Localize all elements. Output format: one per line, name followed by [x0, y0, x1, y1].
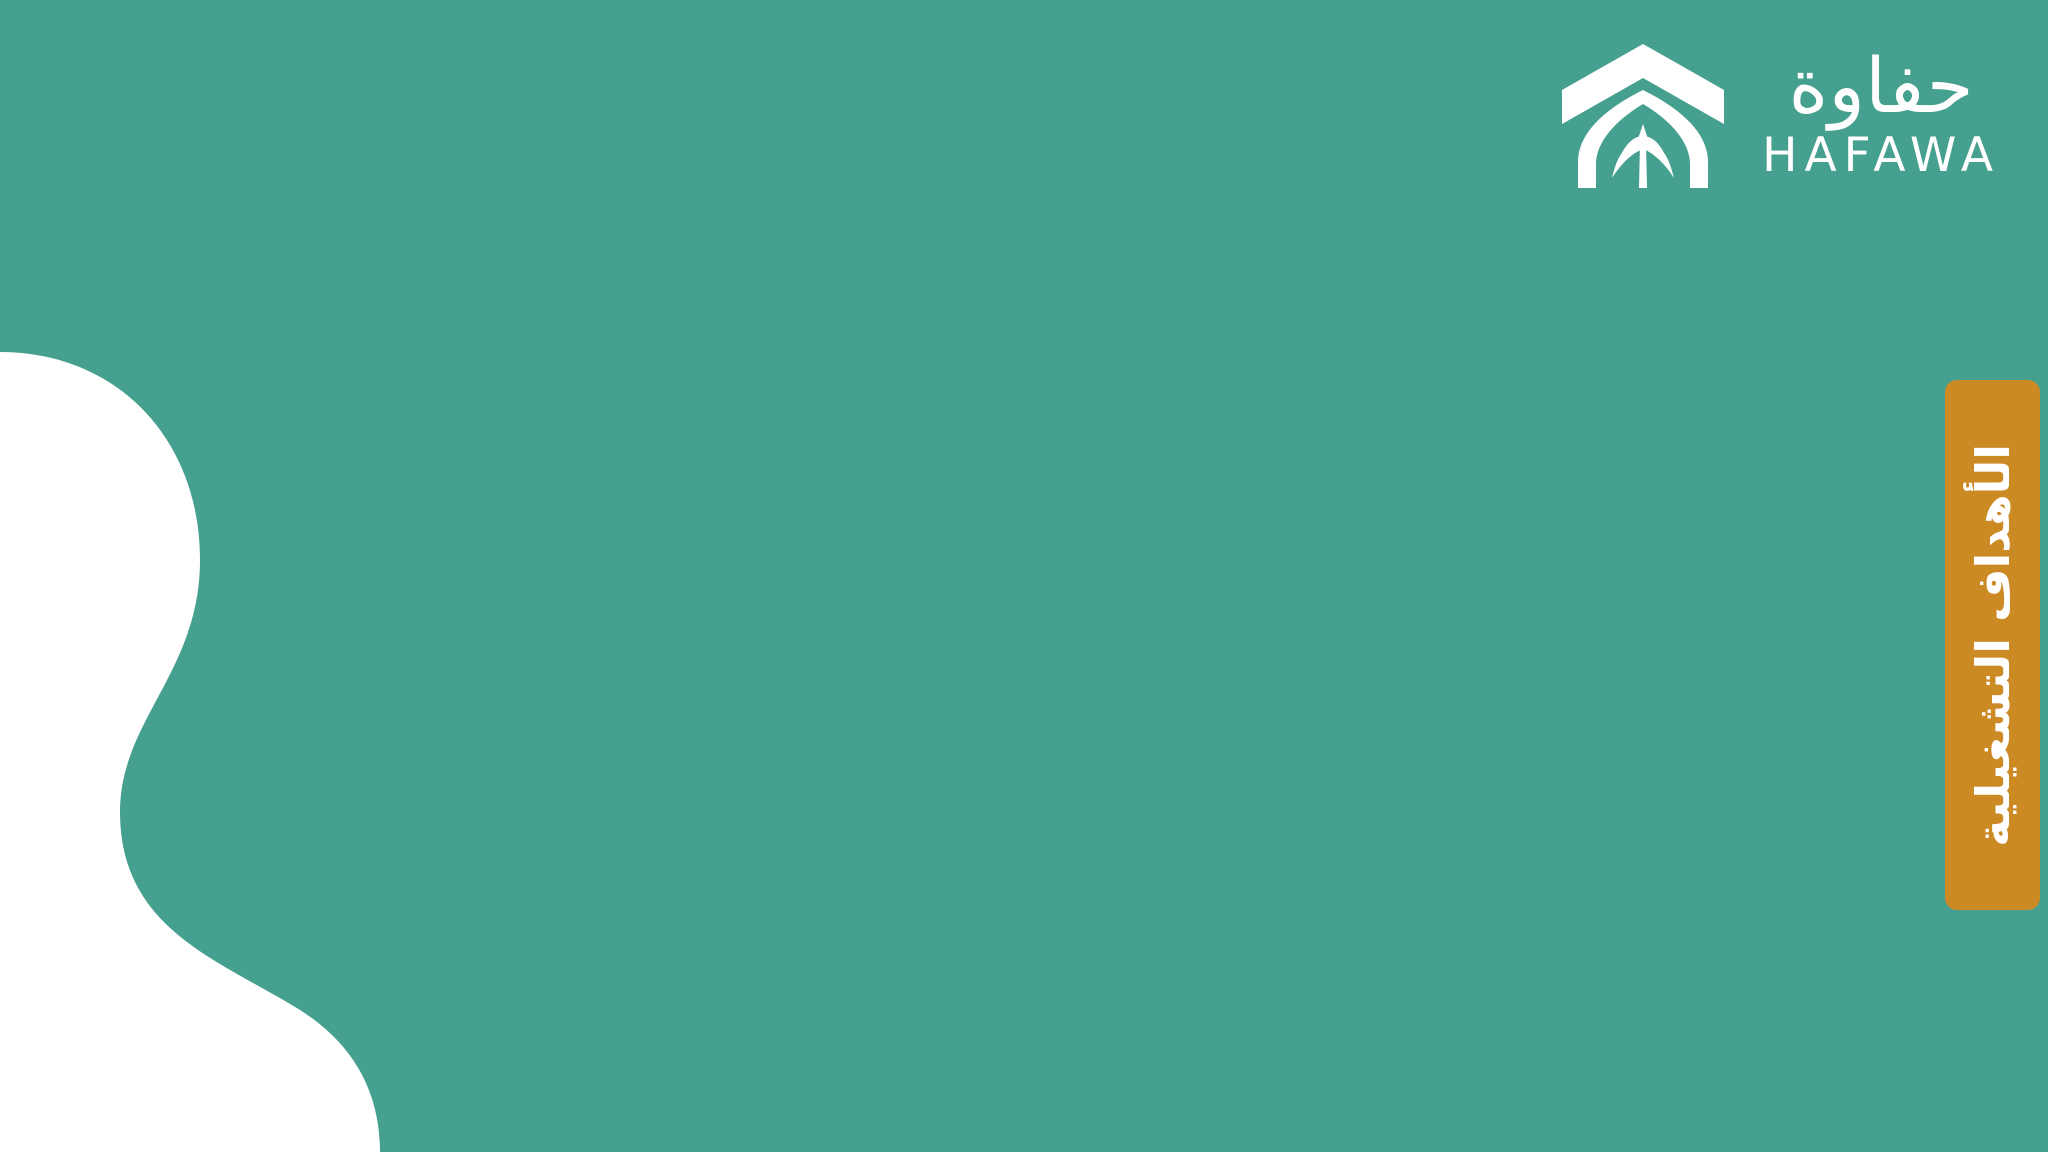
- brand-name-arabic: حفاوة: [1789, 48, 1974, 124]
- hafawa-emblem-icon: [1558, 38, 1728, 188]
- brand-wordmark: حفاوة HAFAWA: [1762, 48, 2000, 179]
- brand-logo: حفاوة HAFAWA: [1558, 38, 2000, 188]
- brand-name-english: HAFAWA: [1762, 132, 2000, 179]
- section-title-bar: الأهداف التشغيلية: [1945, 380, 2040, 910]
- decorative-wave-shape: [0, 0, 420, 1152]
- section-title-text: الأهداف التشغيلية: [1966, 444, 2020, 847]
- infographic-canvas: حفاوة HAFAWA الأهداف التشغيلية: [0, 0, 2048, 1152]
